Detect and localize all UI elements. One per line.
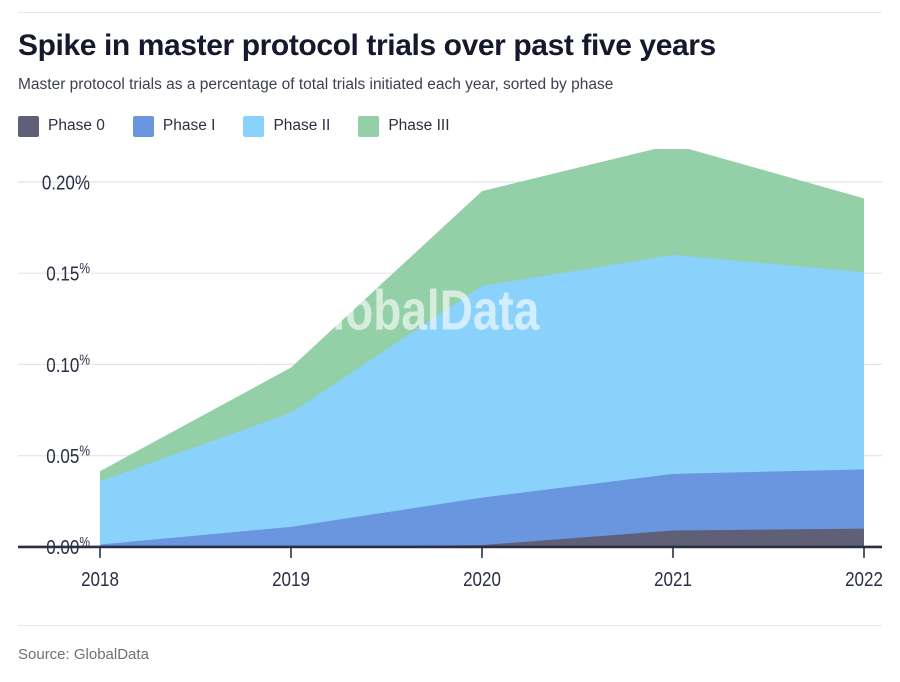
chart-subtitle: Master protocol trials as a percentage o… — [18, 75, 882, 94]
x-axis-ticks — [100, 547, 864, 558]
x-axis-tick-label: 2018 — [81, 568, 119, 591]
x-axis-labels: 20182019202020212022 — [81, 568, 882, 591]
watermark-globaldata: GlobalData — [297, 279, 540, 341]
y-axis-tick-label: 0.00% — [46, 534, 90, 560]
chart-legend: Phase 0 Phase I Phase II Phase III — [18, 116, 882, 137]
legend-item-phase-iii[interactable]: Phase III — [358, 116, 449, 137]
legend-label: Phase I — [163, 117, 216, 135]
x-axis-tick-label: 2020 — [463, 568, 501, 591]
stacked-areas — [100, 149, 864, 547]
chart-plot-area: GlobalData 0.00%0.05%0.10%0.15%0.20% 201… — [18, 149, 882, 625]
legend-swatch-icon — [358, 116, 379, 137]
x-axis-tick-label: 2019 — [272, 568, 310, 591]
legend-label: Phase 0 — [48, 117, 105, 135]
legend-label: Phase II — [273, 117, 330, 135]
legend-item-phase-i[interactable]: Phase I — [133, 116, 216, 137]
y-axis-tick-label: 0.05% — [46, 443, 90, 469]
chart-card: Spike in master protocol trials over pas… — [0, 0, 900, 682]
y-axis-tick-label: 0.20% — [42, 172, 90, 195]
legend-swatch-icon — [243, 116, 264, 137]
legend-item-phase-ii[interactable]: Phase II — [243, 116, 330, 137]
legend-swatch-icon — [133, 116, 154, 137]
y-axis-tick-label: 0.10% — [46, 351, 90, 377]
x-axis-tick-label: 2022 — [845, 568, 882, 591]
page-title: Spike in master protocol trials over pas… — [18, 29, 882, 63]
y-axis-tick-label: 0.15% — [46, 260, 90, 286]
y-axis-labels: 0.00%0.05%0.10%0.15%0.20% — [42, 172, 90, 560]
legend-swatch-icon — [18, 116, 39, 137]
legend-label: Phase III — [388, 117, 449, 135]
area-chart-svg: GlobalData 0.00%0.05%0.10%0.15%0.20% 201… — [18, 149, 882, 625]
source-label: Source: GlobalData — [18, 646, 149, 663]
chart-header: Spike in master protocol trials over pas… — [18, 13, 882, 94]
legend-item-phase-0[interactable]: Phase 0 — [18, 116, 105, 137]
x-axis-tick-label: 2021 — [654, 568, 692, 591]
chart-footer: Source: GlobalData — [18, 626, 882, 682]
